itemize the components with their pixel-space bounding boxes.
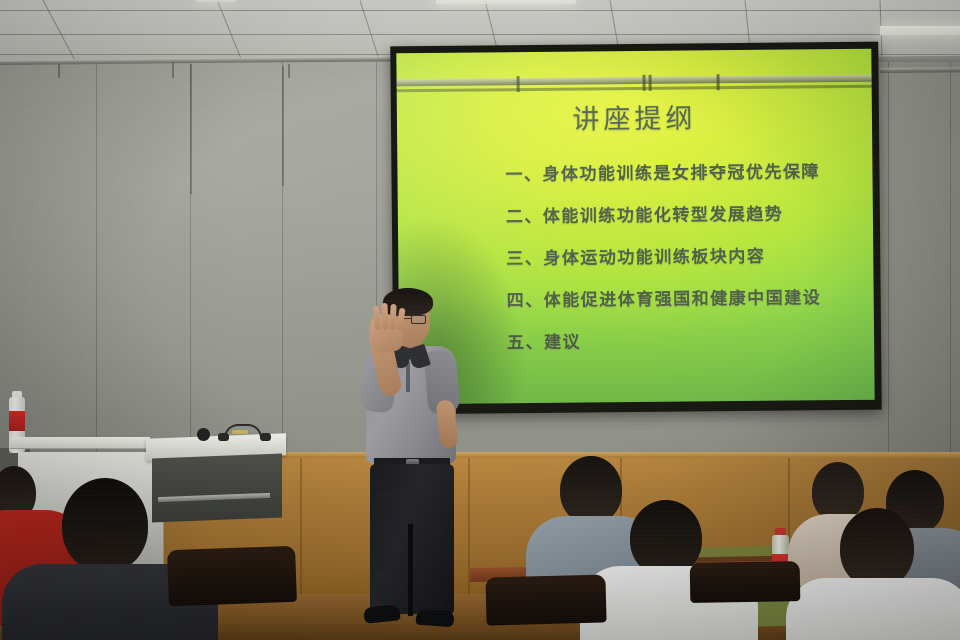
- attendee-white-right: [800, 508, 950, 640]
- headset-microphone-icon: [218, 424, 272, 442]
- attendee-head: [630, 500, 702, 576]
- attendee-shoulders: [786, 578, 960, 640]
- attendee-head: [62, 478, 148, 572]
- presenter: [340, 288, 470, 640]
- slide-title: 讲座提纲: [427, 95, 842, 138]
- slide-line-3: 三、身体运动功能训练板块内容: [506, 248, 843, 268]
- slide-line-4: 四、体能促进体育强国和健康中国建设: [507, 290, 844, 310]
- lecture-hall-photo: 讲座提纲 一、身体功能训练是女排夺冠优先保障 二、体能训练功能化转型发展趋势 三…: [0, 0, 960, 640]
- slide-line-1: 一、身体功能训练是女排夺冠优先保障: [505, 164, 842, 184]
- slide-line-5: 五、建议: [507, 332, 844, 352]
- attendee-head: [840, 508, 914, 588]
- lectern-drawer: [10, 437, 150, 449]
- slide-line-2: 二、体能训练功能化转型发展趋势: [506, 206, 843, 226]
- chair-back-right: [690, 561, 801, 603]
- chair-back: [167, 546, 297, 606]
- chair-back-center: [485, 574, 606, 625]
- microphone-icon: [197, 428, 210, 441]
